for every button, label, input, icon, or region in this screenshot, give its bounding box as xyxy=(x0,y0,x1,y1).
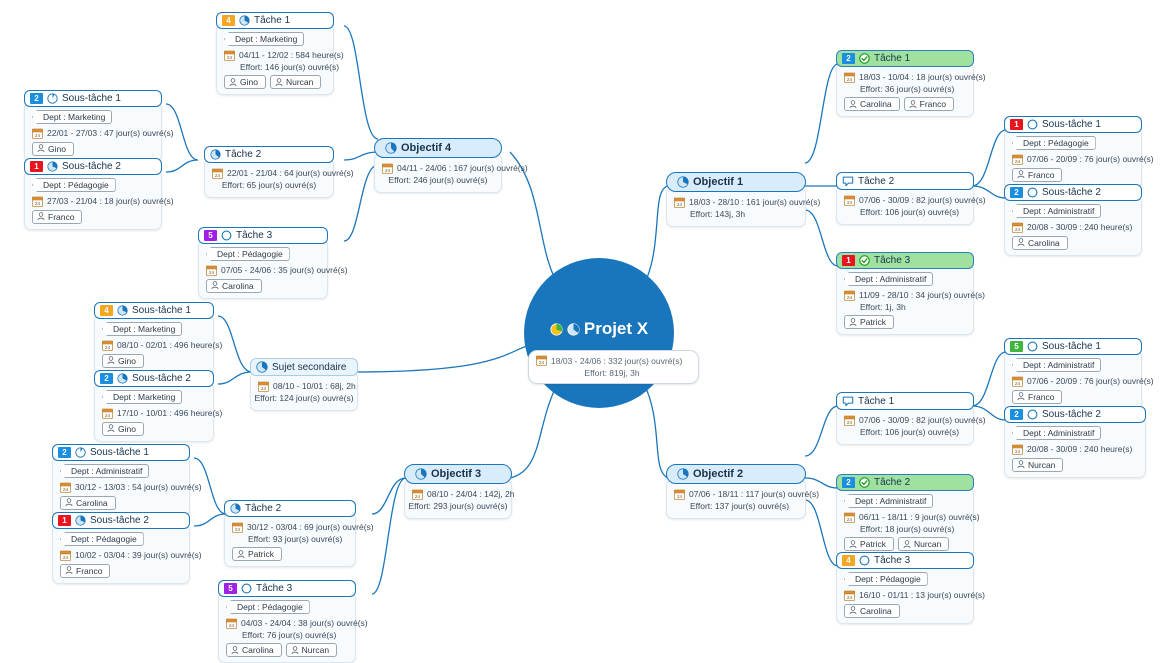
calendar-icon: 24 xyxy=(102,408,113,419)
calendar-icon: 24 xyxy=(102,340,113,351)
node-header[interactable]: 2 Sous-tâche 2 xyxy=(94,370,214,387)
node-o1s1[interactable]: 1 Sous-tâche 1 Dept : Pédagogie 2407/06 … xyxy=(1004,116,1142,188)
assignee-chip[interactable]: Carolina xyxy=(844,97,900,111)
node-header[interactable]: 2 Sous-tâche 1 xyxy=(24,90,162,107)
person-icon xyxy=(909,100,917,109)
node-dates: 27/03 - 21/04 : 18 jour(s) ouvré(s) xyxy=(47,196,174,206)
pie-progress-icon xyxy=(239,15,250,26)
node-header[interactable]: 1 Tâche 3 xyxy=(836,252,974,269)
assignee-chip[interactable]: Patrick xyxy=(232,547,282,561)
node-title: Objectif 2 xyxy=(693,468,743,480)
dept-chip[interactable]: Dept : Administratif xyxy=(60,464,149,478)
node-header[interactable]: Objectif 3 xyxy=(404,464,512,484)
dept-chip[interactable]: Dept : Pédagogie xyxy=(32,178,116,192)
assignee-list: Carolina xyxy=(206,279,320,293)
node-sss1[interactable]: 4 Sous-tâche 1 Dept : Marketing 2408/10 … xyxy=(94,302,214,374)
node-dates: 08/10 - 10/01 : 68j, 2h xyxy=(273,381,356,391)
node-dates: 10/02 - 03/04 : 39 jour(s) ouvré(s) xyxy=(75,550,202,560)
assignee-chip[interactable]: Nurcan xyxy=(1012,458,1063,472)
node-body: Dept : Marketing 2404/11 - 12/02 : 584 h… xyxy=(216,24,334,95)
speech-bubble-icon xyxy=(842,395,854,407)
dept-chip[interactable]: Dept : Pédagogie xyxy=(60,532,144,546)
node-header[interactable]: 5 Sous-tâche 1 xyxy=(1004,338,1142,355)
node-o4s1[interactable]: 2 Sous-tâche 1 Dept : Marketing 2422/01 … xyxy=(24,90,162,162)
assignee-list: Carolina xyxy=(844,604,966,618)
empty-circle-icon xyxy=(1027,341,1038,352)
person-icon xyxy=(849,540,857,549)
pie-progress-icon xyxy=(75,447,86,458)
pie-progress-icon xyxy=(210,149,221,160)
pie-progress-icon xyxy=(75,515,86,526)
node-title: Tâche 2 xyxy=(225,149,261,160)
svg-text:24: 24 xyxy=(1015,381,1021,386)
node-dates: 08/10 - 02/01 : 496 heure(s) xyxy=(117,340,222,350)
calendar-icon: 24 xyxy=(206,265,217,276)
svg-text:24: 24 xyxy=(227,55,233,60)
calendar-icon: 24 xyxy=(60,550,71,561)
node-header[interactable]: 2 Sous-tâche 2 xyxy=(1004,406,1146,423)
assignee-chip[interactable]: Carolina xyxy=(226,643,282,657)
central-topic-label: Projet X xyxy=(550,319,648,339)
node-dates: 07/05 - 24/06 : 35 jour(s) ouvré(s) xyxy=(221,265,348,275)
node-o3s1[interactable]: 2 Sous-tâche 1 Dept : Administratif 2430… xyxy=(52,444,190,516)
assignee-chip[interactable]: Patrick xyxy=(844,315,894,329)
node-o4t2[interactable]: Tâche 2 2422/01 - 21/04 : 64 jour(s) ouv… xyxy=(204,146,334,198)
node-body: Dept : Marketing 2422/01 - 27/03 : 47 jo… xyxy=(24,102,162,162)
node-objectif-2[interactable]: Objectif 2 2407/06 - 18/11 : 117 jour(s)… xyxy=(666,464,806,519)
node-o3t2[interactable]: Tâche 2 2430/12 - 03/04 : 69 jour(s) ouv… xyxy=(224,500,356,567)
dept-chip[interactable]: Dept : Administratif xyxy=(1012,426,1101,440)
assignee-list: Carolina Franco xyxy=(844,97,966,111)
svg-text:24: 24 xyxy=(677,202,683,207)
assignee-chip[interactable]: Franco xyxy=(1012,390,1062,404)
assignee-name: Franco xyxy=(1028,170,1054,180)
assignee-list: Franco xyxy=(32,210,154,224)
dept-chip[interactable]: Dept : Pédagogie xyxy=(844,572,928,586)
assignee-chip[interactable]: Franco xyxy=(1012,168,1062,182)
assignee-name: Carolina xyxy=(242,645,274,655)
node-body: Dept : Marketing 2417/10 - 10/01 : 496 h… xyxy=(94,382,214,442)
priority-badge: 2 xyxy=(1010,409,1023,420)
assignee-name: Franco xyxy=(48,212,74,222)
node-body: 2407/06 - 30/09 : 82 jour(s) ouvré(s) Ef… xyxy=(836,185,974,225)
central-topic-title: Projet X xyxy=(584,319,648,339)
node-dates: 04/03 - 24/04 : 38 jour(s) ouvré(s) xyxy=(241,618,368,628)
assignee-name: Patrick xyxy=(860,539,886,549)
node-header[interactable]: 2 Tâche 2 xyxy=(836,474,974,491)
node-title: Sous-tâche 2 xyxy=(62,161,121,172)
svg-text:24: 24 xyxy=(35,133,41,138)
assignee-list: Franco xyxy=(1012,168,1134,182)
node-effort: Effort: 76 jour(s) ouvré(s) xyxy=(226,630,348,640)
assignee-chip[interactable]: Franco xyxy=(60,564,110,578)
calendar-icon: 24 xyxy=(844,195,855,206)
node-body: Dept : Administratif 2407/06 - 20/09 : 7… xyxy=(1004,350,1142,410)
dept-chip[interactable]: Dept : Administratif xyxy=(1012,204,1101,218)
priority-badge: 2 xyxy=(58,447,71,458)
pie-progress-icon xyxy=(550,323,563,336)
node-effort: Effort: 36 jour(s) ouvré(s) xyxy=(844,84,966,94)
node-body: 2418/03 - 28/10 : 161 jour(s) ouvré(s) E… xyxy=(666,187,806,227)
dept-chip[interactable]: Dept : Administratif xyxy=(844,272,933,286)
node-o3s2[interactable]: 1 Sous-tâche 2 Dept : Pédagogie 2410/02 … xyxy=(52,512,190,584)
node-header[interactable]: Objectif 2 xyxy=(666,464,806,484)
central-topic[interactable]: Projet X 24 18/03 - 24/06 : 332 jour(s) … xyxy=(524,258,674,408)
svg-text:24: 24 xyxy=(539,360,545,365)
assignee-list: Gino xyxy=(102,354,206,368)
assignee-name: Gino xyxy=(118,356,136,366)
priority-badge: 4 xyxy=(842,555,855,566)
svg-text:24: 24 xyxy=(63,555,69,560)
node-body: Dept : Administratif 2420/08 - 30/09 : 2… xyxy=(1004,418,1146,478)
svg-text:24: 24 xyxy=(385,168,391,173)
node-header[interactable]: 5 Tâche 3 xyxy=(218,580,356,597)
node-title: Sous-tâche 2 xyxy=(90,515,149,526)
pie-progress-icon xyxy=(415,468,427,480)
calendar-icon: 24 xyxy=(32,128,43,139)
node-dates: 20/08 - 30/09 : 240 heure(s) xyxy=(1027,444,1132,454)
assignee-chip[interactable]: Patrick xyxy=(844,537,894,551)
person-icon xyxy=(229,78,237,87)
node-o2s1[interactable]: 5 Sous-tâche 1 Dept : Administratif 2407… xyxy=(1004,338,1142,410)
assignee-list: Nurcan xyxy=(1012,458,1138,472)
assignee-chip[interactable]: Nurcan xyxy=(898,537,949,551)
node-header[interactable]: Objectif 1 xyxy=(666,172,806,192)
dept-chip[interactable]: Dept : Administratif xyxy=(1012,358,1101,372)
node-body: 2408/10 - 24/04 : 142j, 2h Effort: 293 j… xyxy=(404,479,512,519)
node-effort: Effort: 124 jour(s) ouvré(s) xyxy=(258,393,350,403)
empty-circle-icon xyxy=(241,583,252,594)
assignee-name: Nurcan xyxy=(1028,460,1055,470)
calendar-icon: 24 xyxy=(844,512,855,523)
calendar-icon: 24 xyxy=(60,482,71,493)
assignee-chip[interactable]: Carolina xyxy=(1012,236,1068,250)
node-title: Tâche 1 xyxy=(254,15,290,26)
pie-progress-icon xyxy=(47,161,58,172)
node-sss2[interactable]: 2 Sous-tâche 2 Dept : Marketing 2417/10 … xyxy=(94,370,214,442)
node-body: Dept : Administratif 2406/11 - 18/11 : 9… xyxy=(836,486,974,557)
node-header[interactable]: Sujet secondaire xyxy=(250,358,358,376)
node-dates: 30/12 - 13/03 : 54 jour(s) ouvré(s) xyxy=(75,482,202,492)
assignee-name: Patrick xyxy=(248,549,274,559)
node-dates: 08/10 - 24/04 : 142j, 2h xyxy=(427,489,514,499)
assignee-list: Gino Nurcan xyxy=(224,75,326,89)
node-title: Objectif 4 xyxy=(401,142,451,154)
node-header[interactable]: Tâche 2 xyxy=(836,172,974,190)
assignee-list: Carolina xyxy=(60,496,182,510)
node-effort: Effort: 143j, 3h xyxy=(674,209,798,219)
person-icon xyxy=(1017,238,1025,247)
node-o3t3[interactable]: 5 Tâche 3 Dept : Pédagogie 2404/03 - 24/… xyxy=(218,580,356,663)
pie-progress-icon xyxy=(677,468,689,480)
node-header[interactable]: Objectif 4 xyxy=(374,138,502,158)
node-title: Sous-tâche 2 xyxy=(132,373,191,384)
person-icon xyxy=(849,100,857,109)
node-o1s2[interactable]: 2 Sous-tâche 2 Dept : Administratif 2420… xyxy=(1004,184,1142,256)
assignee-name: Nurcan xyxy=(302,645,329,655)
node-objectif-4[interactable]: Objectif 4 2404/11 - 24/06 : 167 jour(s)… xyxy=(374,138,502,193)
node-body: 2407/06 - 30/09 : 82 jour(s) ouvré(s) Ef… xyxy=(836,405,974,445)
svg-text:24: 24 xyxy=(35,201,41,206)
node-header[interactable]: 1 Sous-tâche 2 xyxy=(24,158,162,175)
node-sujet-secondaire[interactable]: Sujet secondaire 2408/10 - 10/01 : 68j, … xyxy=(250,358,358,411)
dept-chip[interactable]: Dept : Administratif xyxy=(844,494,933,508)
assignee-chip[interactable]: Gino xyxy=(32,142,74,156)
person-icon xyxy=(849,606,857,615)
node-body: Dept : Administratif 2420/08 - 30/09 : 2… xyxy=(1004,196,1142,256)
node-header[interactable]: Tâche 2 xyxy=(224,500,356,517)
svg-text:24: 24 xyxy=(847,200,853,205)
priority-badge: 1 xyxy=(30,161,43,172)
check-circle-icon xyxy=(859,477,870,488)
pie-progress-icon xyxy=(117,305,128,316)
assignee-chip[interactable]: Franco xyxy=(32,210,82,224)
assignee-chip[interactable]: Franco xyxy=(904,97,954,111)
assignee-name: Nurcan xyxy=(286,77,313,87)
node-o4s2[interactable]: 1 Sous-tâche 2 Dept : Pédagogie 2427/03 … xyxy=(24,158,162,230)
node-header[interactable]: 4 Tâche 3 xyxy=(836,552,974,569)
node-header[interactable]: 2 Sous-tâche 1 xyxy=(52,444,190,461)
assignee-name: Franco xyxy=(76,566,102,576)
node-header[interactable]: 4 Sous-tâche 1 xyxy=(94,302,214,319)
assignee-name: Carolina xyxy=(222,281,254,291)
node-dates: 20/08 - 30/09 : 240 heure(s) xyxy=(1027,222,1132,232)
node-effort: Effort: 246 jour(s) ouvré(s) xyxy=(382,175,494,185)
calendar-icon: 24 xyxy=(536,355,547,366)
node-title: Tâche 3 xyxy=(874,555,910,566)
node-objectif-3[interactable]: Objectif 3 2408/10 - 24/04 : 142j, 2h Ef… xyxy=(404,464,512,519)
node-title: Sujet secondaire xyxy=(272,362,347,373)
speech-bubble-icon xyxy=(842,175,854,187)
priority-badge: 2 xyxy=(100,373,113,384)
assignee-name: Franco xyxy=(920,99,946,109)
dept-chip[interactable]: Dept : Marketing xyxy=(102,390,182,404)
mindmap-canvas: Projet X 24 18/03 - 24/06 : 332 jour(s) … xyxy=(0,0,1170,663)
check-circle-icon xyxy=(859,53,870,64)
assignee-list: Patrick Nurcan xyxy=(844,537,966,551)
node-dates: 06/11 - 18/11 : 9 jour(s) ouvré(s) xyxy=(859,512,980,522)
central-topic-effort: Effort: 819j, 3h xyxy=(536,368,688,378)
node-title: Sous-tâche 1 xyxy=(90,447,149,458)
node-dates: 11/09 - 28/10 : 34 jour(s) ouvré(s) xyxy=(859,290,985,300)
node-body: 2430/12 - 03/04 : 69 jour(s) ouvré(s) Ef… xyxy=(224,512,356,567)
person-icon xyxy=(37,144,45,153)
calendar-icon: 24 xyxy=(226,618,237,629)
empty-circle-icon xyxy=(221,230,232,241)
central-topic-dates: 18/03 - 24/06 : 332 jour(s) ouvré(s) xyxy=(551,356,682,366)
empty-circle-icon xyxy=(1027,187,1038,198)
svg-text:24: 24 xyxy=(105,345,111,350)
priority-badge: 2 xyxy=(30,93,43,104)
node-body: Dept : Administratif 2411/09 - 28/10 : 3… xyxy=(836,264,974,335)
person-icon xyxy=(237,550,245,559)
node-o1t1[interactable]: 2 Tâche 1 2418/03 - 10/04 : 18 jour(s) o… xyxy=(836,50,974,117)
node-dates: 07/06 - 20/09 : 76 jour(s) ouvré(s) xyxy=(1027,154,1154,164)
svg-text:24: 24 xyxy=(209,270,215,275)
dept-chip[interactable]: Dept : Pédagogie xyxy=(226,600,310,614)
priority-badge: 1 xyxy=(1010,119,1023,130)
calendar-icon: 24 xyxy=(1012,376,1023,387)
calendar-icon: 24 xyxy=(412,489,423,500)
node-body: Dept : Administratif 2430/12 - 13/03 : 5… xyxy=(52,456,190,516)
pie-progress-icon xyxy=(567,323,580,336)
node-title: Sous-tâche 1 xyxy=(1042,119,1101,130)
node-o4t1[interactable]: 4 Tâche 1 Dept : Marketing 2404/11 - 12/… xyxy=(216,12,334,95)
node-o4t3[interactable]: 5 Tâche 3 Dept : Pédagogie 2407/05 - 24/… xyxy=(198,227,328,299)
calendar-icon: 24 xyxy=(232,522,243,533)
node-o1t3[interactable]: 1 Tâche 3 Dept : Administratif 2411/09 -… xyxy=(836,252,974,335)
assignee-name: Gino xyxy=(240,77,258,87)
svg-text:24: 24 xyxy=(229,623,235,628)
node-title: Objectif 1 xyxy=(693,176,743,188)
priority-badge: 4 xyxy=(100,305,113,316)
svg-text:24: 24 xyxy=(847,595,853,600)
node-dates: 16/10 - 01/11 : 13 jour(s) ouvré(s) xyxy=(859,590,985,600)
svg-text:24: 24 xyxy=(1015,159,1021,164)
central-topic-details: 24 18/03 - 24/06 : 332 jour(s) ouvré(s) … xyxy=(528,350,699,384)
assignee-chip[interactable]: Nurcan xyxy=(270,75,321,89)
node-body: 2418/03 - 10/04 : 18 jour(s) ouvré(s) Ef… xyxy=(836,62,974,117)
dept-chip[interactable]: Dept : Marketing xyxy=(224,32,304,46)
node-body: 2404/11 - 24/06 : 167 jour(s) ouvré(s) E… xyxy=(374,153,502,193)
node-o2t3[interactable]: 4 Tâche 3 Dept : Pédagogie 2416/10 - 01/… xyxy=(836,552,974,624)
assignee-list: Gino xyxy=(32,142,154,156)
empty-circle-icon xyxy=(1027,409,1038,420)
node-header[interactable]: Tâche 2 xyxy=(204,146,334,163)
node-effort: Effort: 293 jour(s) ouvré(s) xyxy=(412,501,504,511)
node-header[interactable]: 5 Tâche 3 xyxy=(198,227,328,244)
node-dates: 07/06 - 18/11 : 117 jour(s) ouvré(s) xyxy=(689,489,819,499)
assignee-chip[interactable]: Carolina xyxy=(206,279,262,293)
priority-badge: 4 xyxy=(222,15,235,26)
node-dates: 07/06 - 30/09 : 82 jour(s) ouvré(s) xyxy=(859,195,986,205)
calendar-icon: 24 xyxy=(1012,222,1023,233)
dept-chip[interactable]: Dept : Pédagogie xyxy=(206,247,290,261)
node-body: 2422/01 - 21/04 : 64 jour(s) ouvré(s) Ef… xyxy=(204,158,334,198)
dept-chip[interactable]: Dept : Pédagogie xyxy=(1012,136,1096,150)
person-icon xyxy=(37,212,45,221)
node-dates: 04/11 - 12/02 : 584 heure(s) xyxy=(239,50,344,60)
pie-progress-icon xyxy=(117,373,128,384)
node-title: Sous-tâche 1 xyxy=(132,305,191,316)
calendar-icon: 24 xyxy=(382,163,393,174)
priority-badge: 5 xyxy=(204,230,217,241)
svg-text:24: 24 xyxy=(847,517,853,522)
node-o1t2[interactable]: Tâche 2 2407/06 - 30/09 : 82 jour(s) ouv… xyxy=(836,172,974,225)
node-header[interactable]: 2 Sous-tâche 2 xyxy=(1004,184,1142,201)
node-title: Tâche 3 xyxy=(236,230,272,241)
calendar-icon: 24 xyxy=(1012,444,1023,455)
assignee-chip[interactable]: Gino xyxy=(224,75,266,89)
node-effort: Effort: 1j, 3h xyxy=(844,302,966,312)
assignee-name: Gino xyxy=(48,144,66,154)
assignee-chip[interactable]: Carolina xyxy=(844,604,900,618)
pie-progress-icon xyxy=(47,93,58,104)
pie-progress-icon xyxy=(677,176,689,188)
dept-chip[interactable]: Dept : Marketing xyxy=(102,322,182,336)
assignee-list: Gino xyxy=(102,422,206,436)
node-body: Dept : Pédagogie 2427/03 - 21/04 : 18 jo… xyxy=(24,170,162,230)
assignee-name: Carolina xyxy=(1028,238,1060,248)
person-icon xyxy=(1017,170,1025,179)
node-body: 2407/06 - 18/11 : 117 jour(s) ouvré(s) E… xyxy=(666,479,806,519)
node-header[interactable]: Tâche 1 xyxy=(836,392,974,410)
node-body: Dept : Pédagogie 2410/02 - 03/04 : 39 jo… xyxy=(52,524,190,584)
node-title: Objectif 3 xyxy=(431,468,481,480)
calendar-icon: 24 xyxy=(844,72,855,83)
person-icon xyxy=(1017,392,1025,401)
calendar-icon: 24 xyxy=(1012,154,1023,165)
node-effort: Effort: 93 jour(s) ouvré(s) xyxy=(232,534,348,544)
svg-text:24: 24 xyxy=(847,420,853,425)
node-header[interactable]: 1 Sous-tâche 1 xyxy=(1004,116,1142,133)
person-icon xyxy=(65,498,73,507)
svg-text:24: 24 xyxy=(847,295,853,300)
node-dates: 18/03 - 10/04 : 18 jour(s) ouvré(s) xyxy=(859,72,986,82)
calendar-icon: 24 xyxy=(844,415,855,426)
assignee-list: Franco xyxy=(1012,390,1134,404)
node-objectif-1[interactable]: Objectif 1 2418/03 - 28/10 : 161 jour(s)… xyxy=(666,172,806,227)
node-o2t2[interactable]: 2 Tâche 2 Dept : Administratif 2406/11 -… xyxy=(836,474,974,557)
dept-chip[interactable]: Dept : Marketing xyxy=(32,110,112,124)
node-header[interactable]: 1 Sous-tâche 2 xyxy=(52,512,190,529)
assignee-list: Patrick xyxy=(232,547,348,561)
calendar-icon: 24 xyxy=(674,489,685,500)
person-icon xyxy=(107,424,115,433)
node-header[interactable]: 4 Tâche 1 xyxy=(216,12,334,29)
person-icon xyxy=(903,540,911,549)
calendar-icon: 24 xyxy=(212,168,223,179)
node-title: Tâche 2 xyxy=(245,503,281,514)
node-title: Sous-tâche 2 xyxy=(1042,187,1101,198)
node-o2s2[interactable]: 2 Sous-tâche 2 Dept : Administratif 2420… xyxy=(1004,406,1146,478)
node-dates: 30/12 - 03/04 : 69 jour(s) ouvré(s) xyxy=(247,522,374,532)
pie-progress-icon xyxy=(256,361,268,373)
node-effort: Effort: 18 jour(s) ouvré(s) xyxy=(844,524,966,534)
person-icon xyxy=(231,646,239,655)
node-dates: 22/01 - 21/04 : 64 jour(s) ouvré(s) xyxy=(227,168,354,178)
assignee-list: Carolina xyxy=(1012,236,1134,250)
svg-text:24: 24 xyxy=(1015,227,1021,232)
empty-circle-icon xyxy=(1027,119,1038,130)
node-effort: Effort: 146 jour(s) ouvré(s) xyxy=(224,62,326,72)
node-effort: Effort: 65 jour(s) ouvré(s) xyxy=(212,180,326,190)
calendar-icon: 24 xyxy=(844,590,855,601)
assignee-list: Franco xyxy=(60,564,182,578)
node-body: Dept : Pédagogie 2404/03 - 24/04 : 38 jo… xyxy=(218,592,356,663)
node-title: Tâche 3 xyxy=(256,583,292,594)
assignee-chip[interactable]: Carolina xyxy=(60,496,116,510)
assignee-chip[interactable]: Nurcan xyxy=(286,643,337,657)
person-icon xyxy=(1017,460,1025,469)
node-o2t1[interactable]: Tâche 1 2407/06 - 30/09 : 82 jour(s) ouv… xyxy=(836,392,974,445)
node-title: Sous-tâche 1 xyxy=(62,93,121,104)
node-title: Tâche 2 xyxy=(858,176,894,187)
svg-text:24: 24 xyxy=(235,527,241,532)
pie-progress-icon xyxy=(385,142,397,154)
node-title: Sous-tâche 1 xyxy=(1042,341,1101,352)
priority-badge: 2 xyxy=(842,477,855,488)
node-header[interactable]: 2 Tâche 1 xyxy=(836,50,974,67)
node-dates: 22/01 - 27/03 : 47 jour(s) ouvré(s) xyxy=(47,128,174,138)
assignee-name: Patrick xyxy=(860,317,886,327)
calendar-icon: 24 xyxy=(844,290,855,301)
assignee-chip[interactable]: Gino xyxy=(102,422,144,436)
assignee-chip[interactable]: Gino xyxy=(102,354,144,368)
assignee-name: Franco xyxy=(1028,392,1054,402)
node-effort: Effort: 106 jour(s) ouvré(s) xyxy=(844,207,966,217)
calendar-icon: 24 xyxy=(674,197,685,208)
